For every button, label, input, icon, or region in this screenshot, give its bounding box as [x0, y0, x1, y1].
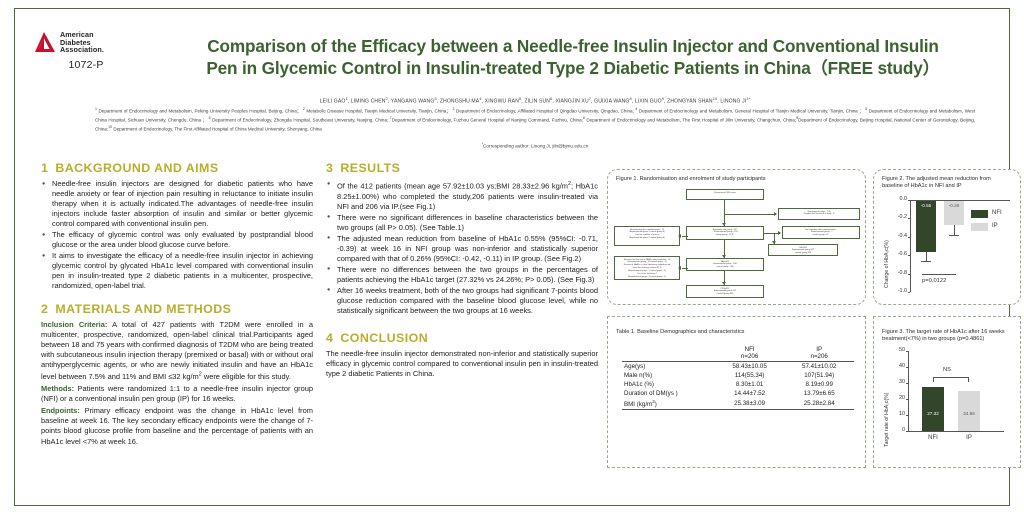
figure2-p-value: p=0.0122	[922, 278, 946, 284]
figure2-ytick-2: -0.4	[890, 233, 907, 239]
ada-logo: American Diabetes Association. 1072-P	[33, 31, 137, 71]
table1-row1-nfi: 114(55.34)	[715, 371, 785, 380]
results-bullet-5: After 16 weeks treatment, both of the tw…	[326, 286, 598, 316]
section-title-background: BACKGROUND AND AIMS	[55, 161, 218, 175]
figure3-tick-40	[906, 367, 908, 368]
flow-box-no-treatment-left: No treatment after randomization : 11(Ex…	[614, 226, 680, 246]
section-results: 3RESULTS Of the 412 patients (mean age 5…	[326, 161, 598, 316]
section-number-3: 3	[326, 161, 333, 175]
flow-box-randomized: Randomly into group : 427（Experimental g…	[686, 226, 764, 240]
table1-row1-label: Male n(%)	[622, 371, 715, 380]
table1-row2-ip: 8.19±0.99	[784, 380, 854, 389]
table1-bottom-rule-row	[622, 410, 854, 412]
figure3-x-axis	[908, 431, 1004, 432]
figure2-errorbar-ip-line	[954, 225, 955, 235]
title-line-2: Pen in Glycemic Control in Insulin-treat…	[135, 57, 1011, 79]
flow-arrow-h2	[778, 231, 781, 235]
figure3-ns-bracket-left	[933, 377, 934, 382]
section-heading-conclusion: 4CONCLUSION	[326, 331, 598, 345]
background-bullet-3: It aims to investigate the efficacy of a…	[41, 251, 313, 291]
figure2-ytick-1: -0.2	[890, 214, 907, 220]
results-bullet-1: Of the 412 patients (mean age 57.92±10.0…	[326, 179, 598, 212]
figure2-tick-3	[908, 255, 910, 256]
figure2-legend-label-ip: IP	[992, 223, 998, 229]
table1-col-ip: IP	[784, 345, 854, 353]
figure3-caption: Figure 3. The target rate of HbA1c after…	[874, 317, 1020, 344]
corresponding-author: *Corresponding author: Linong Ji, jiln@b…	[95, 142, 975, 149]
figure3-ns-label: NS	[943, 367, 951, 373]
endpoints-paragraph: Endpoints: Primary efficacy endpoint was…	[41, 406, 313, 446]
inclusion-criteria-label: Inclusion Criteria:	[41, 320, 107, 329]
flow-arrow-h1	[774, 212, 777, 216]
section-heading-methods: 2MATERIALS AND METHODS	[41, 302, 313, 316]
figure2-ytick-3: -0.6	[890, 251, 907, 257]
table1-row0-label: Age(ys)	[622, 362, 715, 372]
table1-row3-label: Duration of DM(ys )	[622, 389, 715, 398]
figure3-ns-bracket-right	[968, 377, 969, 382]
column-middle: 3RESULTS Of the 412 patients (mean age 5…	[326, 161, 598, 381]
poster-root: American Diabetes Association. 1072-P Co…	[0, 0, 1024, 514]
figure3-ytick-0: 0	[888, 427, 905, 433]
flow-line-h3	[682, 236, 688, 237]
results-bullet-2: There were no significant differences in…	[326, 213, 598, 233]
background-bullet-2: The efficacy of glycemic control was onl…	[41, 230, 313, 250]
flow-arrow-v3	[772, 241, 776, 244]
flow-arrow-h3	[678, 234, 681, 238]
figure3-xtick-ip: IP	[958, 435, 980, 441]
ada-triangle-icon	[33, 31, 57, 54]
flow-box-fas: FAS=412Experimental group : 206control g…	[686, 258, 764, 271]
table1-col-nfi: NFI	[715, 345, 785, 353]
endpoints-label: Endpoints:	[41, 406, 80, 415]
table1-header-row: NFI IP	[622, 345, 854, 353]
figure2-legend-swatch-ip	[971, 223, 988, 231]
author-list: LEILI GAO1, LIMING CHEN2, YANGANG WANG3,…	[93, 95, 977, 106]
flow-arrow-v1	[722, 223, 726, 226]
poster-header: American Diabetes Association. 1072-P Co…	[15, 9, 1009, 137]
figure2-errorbar-ip-cap	[949, 235, 959, 236]
section-number-4: 4	[326, 331, 333, 345]
section-number-1: 1	[41, 161, 48, 175]
methods-label: Methods:	[41, 384, 74, 393]
flow-line-h1	[724, 214, 776, 215]
figure2-caption: Figure 2. The adjusted mean reduction fr…	[874, 170, 1020, 191]
figure3-chart: Target rate of HbA₁c(%) 50 40 30 20 10 0	[882, 347, 1014, 463]
flow-box-ss: SS=416Experimental group:207control grou…	[768, 244, 838, 256]
table-row: Male n(%) 114(55.34) 107(51.94)	[622, 371, 854, 380]
page-title: Comparison of the Efficacy between a Nee…	[135, 35, 1011, 79]
figure2-errorbar-nfi-cap	[921, 261, 931, 262]
figure2-bar-value-ip: -0.26	[944, 203, 964, 208]
figure2-errorbar-nfi-line	[926, 252, 927, 262]
figure3-panel: Figure 3. The target rate of HbA1c after…	[873, 316, 1021, 468]
table-row: Duration of DM(ys ) 14.44±7.52 13.79±6.6…	[622, 389, 854, 398]
section-title-conclusion: CONCLUSION	[340, 331, 428, 345]
figure2-tick-1	[908, 218, 910, 219]
table1-row3-ip: 13.79±6.65	[784, 389, 854, 398]
section-title-methods: MATERIALS AND METHODS	[55, 302, 231, 316]
inclusion-criteria-paragraph: Inclusion Criteria: A total of 427 patie…	[41, 320, 313, 383]
methods-paragraph: Methods: Patients were randomized 1:1 to…	[41, 384, 313, 404]
section-heading-results: 3RESULTS	[326, 161, 598, 175]
flow-box-exclusions: Because lost the use of HbA1c after trea…	[614, 256, 680, 280]
flow-box-no-treatment-right: No treatment after randomization :（Exper…	[782, 226, 860, 239]
figure2-tick-0	[908, 200, 910, 201]
flow-box-screening-failure: Screening of failure : 130Random but not…	[778, 208, 860, 220]
flow-arrow-v4	[722, 282, 726, 285]
figure3-tick-50	[906, 351, 908, 352]
figure2-tick-2	[908, 237, 910, 238]
background-bullet-1: Needle-free insulin injectors are design…	[41, 179, 313, 229]
section-heading-background: 1BACKGROUND AND AIMS	[41, 161, 313, 175]
title-line-1: Comparison of the Efficacy between a Nee…	[135, 35, 1011, 57]
figure1-panel: Figure 1. Randomisation and enrolment of…	[607, 169, 866, 305]
figure3-tick-0	[906, 431, 908, 432]
ada-word-association: Association.	[60, 46, 104, 54]
figure2-tick-4	[908, 274, 910, 275]
table1-row0-nfi: 58.43±10.05	[715, 362, 785, 372]
baseline-characteristics-table: NFI IP n=206 n=206 Age(ys) 58.43±10.05 5…	[622, 345, 854, 411]
figure3-y-axis	[908, 351, 909, 431]
figure1-caption: Figure 1. Randomisation and enrolment of…	[608, 170, 865, 183]
section-background: 1BACKGROUND AND AIMS Needle-free insulin…	[41, 161, 313, 292]
figure2-y-axis-label: Change of HbA₁c(%)	[884, 240, 890, 288]
affiliation-list: 1 Department of Endocrinology and Metabo…	[95, 106, 975, 133]
section-number-2: 2	[41, 302, 48, 316]
section-title-results: RESULTS	[340, 161, 400, 175]
figure2-bar-value-nfi: -0.55	[916, 203, 936, 208]
figure3-ytick-10: 10	[888, 411, 905, 417]
table1-sub-blank	[622, 353, 715, 362]
table1-row4-label: BMI (kg/m2)	[622, 398, 715, 410]
figure2-legend-swatch-nfi	[971, 210, 988, 218]
figure3-tick-20	[906, 399, 908, 400]
table1-caption: Table 1. Baseline Demographics and chara…	[608, 317, 865, 336]
table1-row1-ip: 107(51.94)	[784, 371, 854, 380]
table1-sub-nfi: n=206	[715, 353, 785, 362]
figure2-ytick-5: -1.0	[890, 288, 907, 294]
section-methods: 2MATERIALS AND METHODS Inclusion Criteri…	[41, 302, 313, 447]
figure2-ytick-4: -0.8	[890, 270, 907, 276]
figure2-y-axis	[910, 200, 911, 292]
flow-box-screening: Screening of 598 cases	[686, 189, 764, 200]
table1-row3-nfi: 14.44±7.52	[715, 389, 785, 398]
figure3-ytick-30: 30	[888, 379, 905, 385]
figure3-ns-bracket-top	[933, 377, 969, 378]
figure3-xtick-nfi: NFI	[922, 435, 944, 441]
endpoints-text: Primary efficacy endpoint was the change…	[41, 406, 313, 445]
figure3-tick-30	[906, 383, 908, 384]
table1-row2-nfi: 8.30±1.01	[715, 380, 785, 389]
flow-arrow-v2	[722, 255, 726, 258]
results-bullet-3: The adjusted mean reduction from baselin…	[326, 234, 598, 264]
table1-bottom-rule	[622, 410, 854, 412]
figure2-tick-5	[908, 292, 910, 293]
figure1-flowchart: Screening of 598 cases Screening of fail…	[612, 186, 863, 302]
table1-row0-ip: 57.41±10.02	[784, 362, 854, 372]
results-bullet-4: There were no differences between the tw…	[326, 265, 598, 285]
poster-frame: American Diabetes Association. 1072-P Co…	[14, 8, 1010, 506]
section-conclusion: 4CONCLUSION The needle-free insulin inje…	[326, 331, 598, 379]
table1-panel: Table 1. Baseline Demographics and chara…	[607, 316, 866, 468]
methods-text: Patients were randomized 1:1 to a needle…	[41, 384, 313, 403]
table-row: HbA1c (%) 8.30±1.01 8.19±0.99	[622, 380, 854, 389]
figure2-legend-label-nfi: NFI	[992, 210, 1002, 216]
figure3-bar-value-nfi: 27.32	[922, 411, 944, 416]
figure3-bar-nfi	[922, 387, 944, 431]
conclusion-text: The needle-free insulin injector demonst…	[326, 349, 598, 379]
figure3-ytick-50: 50	[888, 347, 905, 353]
figure3-ytick-20: 20	[888, 395, 905, 401]
column-left: 1BACKGROUND AND AIMS Needle-free insulin…	[41, 161, 313, 449]
figure2-chart: Change of HbA₁c(%) 0.0 -0.2 -0.4 -0.6 -0…	[882, 196, 1014, 300]
table1-row4-ip: 25.28±2.84	[784, 398, 854, 410]
table-row: Age(ys) 58.43±10.05 57.41±10.02	[622, 362, 854, 372]
flow-arrow-h4	[678, 266, 681, 270]
table1-sub-ip: n=206	[784, 353, 854, 362]
ada-logo-text: American Diabetes Association.	[60, 31, 104, 54]
table1-row2-label: HbA1c (%)	[622, 380, 715, 389]
table-row: BMI (kg/m2) 25.38±3.09 25.28±2.84	[622, 398, 854, 410]
figure2-ytick-0: 0.0	[890, 196, 907, 202]
figure3-tick-10	[906, 415, 908, 416]
figure2-bar-nfi	[916, 201, 936, 252]
figure2-significance-bar	[922, 274, 956, 275]
table1-subheader-row: n=206 n=206	[622, 353, 854, 362]
figure3-bar-value-ip: 24.86	[958, 411, 980, 416]
figure3-ytick-40: 40	[888, 363, 905, 369]
flow-line-h4	[682, 268, 688, 269]
figure2-panel: Figure 2. The adjusted mean reduction fr…	[873, 169, 1021, 305]
flow-box-pps: PPS=397Experimental group:197Control gro…	[686, 285, 764, 298]
table1-row4-nfi: 25.38±3.09	[715, 398, 785, 410]
poster-number: 1072-P	[33, 59, 137, 71]
table1-col-blank	[622, 345, 715, 353]
